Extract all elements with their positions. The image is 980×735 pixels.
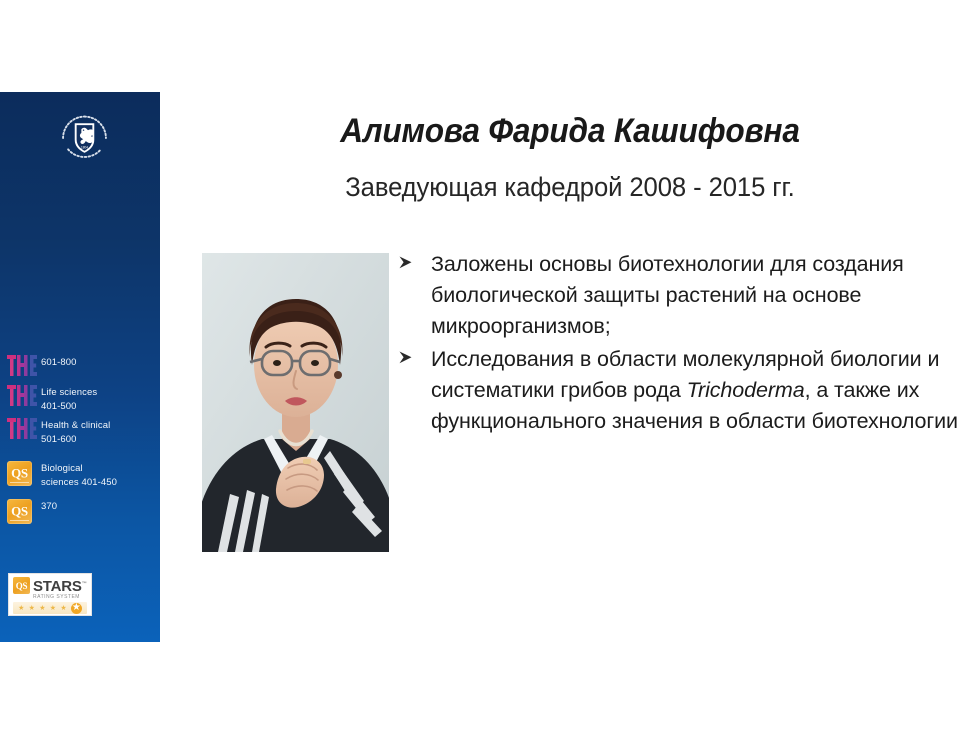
qs-stars-rating-strip: ★ ★ ★ ★ ★ ★ [13,602,87,614]
rankings-list: 601-800 [0,354,160,528]
ranking-row-the-life-sciences: Life sciences401-500 [0,384,160,413]
qs-stars-wordmark: STARS™ [33,577,87,594]
the-logo-icon [7,384,41,406]
ranking-text: Health & clinical501-600 [41,417,110,446]
star-icon: ★ [39,605,45,612]
ranking-text: 370 [41,498,57,514]
the-logo-icon [7,417,41,439]
qs-logo-icon: QS [7,460,41,486]
ranking-text: 601-800 [41,354,77,370]
ranking-text: Biologicalsciences 401-450 [41,460,117,489]
bullet-list: Заложены основы биотехнологии для создан… [398,249,958,439]
ranking-line-1: Health & clinical [41,420,110,431]
ranking-line-2: 501-600 [41,434,77,445]
page-subtitle: Заведующая кафедрой 2008 - 2015 гг. [195,172,946,203]
bullet-text-segment: Заложены основы биотехнологии для создан… [431,252,904,338]
qs-logo-text: QS [7,503,32,519]
star-icon: ★ [29,605,35,612]
ranking-text: Life sciences401-500 [41,384,97,413]
list-item-text: Исследования в области молекулярной биол… [431,344,958,437]
list-item: Заложены основы биотехнологии для создан… [398,249,958,342]
portrait-photo [202,253,389,552]
qs-stars-header: QS STARS™ [13,577,87,594]
qs-stars-badge: QS STARS™ RATING SYSTEM ★ ★ ★ ★ ★ ★ [8,573,92,616]
ranking-row-qs-overall: QS 370 [0,498,160,524]
qs-stars-logo-icon: QS [13,577,30,594]
sidebar-panel: 601-800 [0,92,160,642]
qs-logo-icon: QS [7,498,41,524]
bullet-text-segment-italic: Trichoderma [687,378,805,402]
qs-stars-subtitle: RATING SYSTEM [33,594,87,600]
the-logo-icon [7,354,41,376]
arrowhead-bullet-icon [398,249,431,270]
kazan-federal-university-emblem-icon: 1804 [53,104,116,167]
trademark-icon: ™ [82,581,87,587]
star-icon: ★ [50,605,56,612]
star-icon-highlight: ★ [71,603,82,614]
list-item-text: Заложены основы биотехнологии для создан… [431,249,958,342]
star-icon: ★ [60,605,66,612]
list-item: Исследования в области молекулярной биол… [398,344,958,437]
ranking-line-1: Biological [41,463,83,474]
svg-text:1804: 1804 [81,145,88,149]
ranking-line-2: 401-500 [41,401,77,412]
qs-logo-text: QS [7,465,32,481]
qs-stars-word: STARS [33,578,82,595]
qs-stars-logo-text: QS [13,577,30,594]
page-title: Алимова Фарида Кашифовна [203,112,938,151]
arrowhead-bullet-icon [398,344,431,365]
ranking-line-1: Life sciences [41,387,97,398]
ranking-row-qs-biological-sciences: QS Biologicalsciences 401-450 [0,460,160,489]
slide-canvas: 601-800 [0,0,980,735]
ranking-row-the-overall: 601-800 [0,354,160,380]
star-icon: ★ [18,605,24,612]
ranking-row-the-health-clinical: Health & clinical501-600 [0,417,160,446]
ranking-line-2: sciences 401-450 [41,477,117,488]
